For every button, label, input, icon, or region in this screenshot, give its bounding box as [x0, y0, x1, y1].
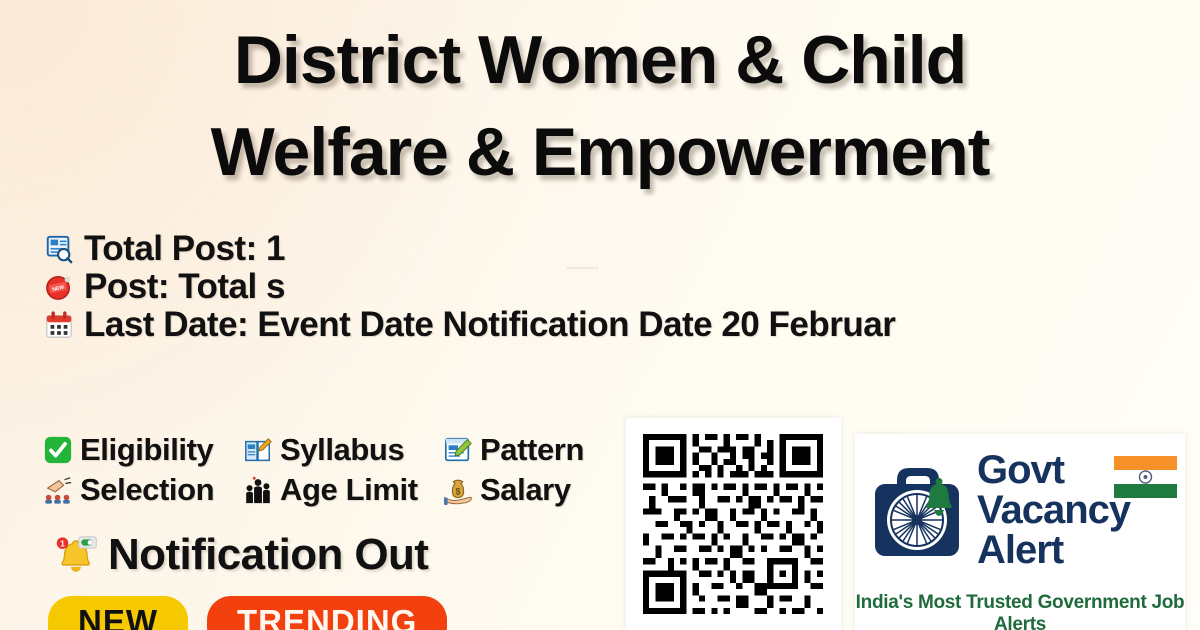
money-bag-icon: $ [442, 474, 474, 506]
info-list: Total Post: 1 NEW Post: Total s [42, 230, 1200, 344]
feature-list: Eligibility Syllabus [42, 430, 642, 510]
logo-word-line-3: Alert [977, 530, 1130, 570]
info-text: Last Date: Event Date Notification Date … [84, 305, 895, 345]
logo-word-line-1: Govt [977, 450, 1130, 490]
info-row-total-post: Total Post: 1 [42, 230, 1200, 268]
feature-row-2: Selection Age Limit $ [42, 470, 642, 510]
bell-alert-icon: 1 [48, 528, 102, 582]
logo-tagline: India's Most Trusted Government Job Aler… [855, 592, 1185, 630]
india-flag-icon [1114, 456, 1177, 498]
info-row-post: NEW Post: Total s [42, 268, 1200, 306]
info-text: Post: Total s [84, 267, 285, 307]
feature-label: Salary [480, 472, 571, 508]
selection-hand-icon [42, 474, 74, 506]
green-check-icon [42, 434, 74, 466]
feature-pattern: Pattern [442, 432, 642, 468]
notification-label: Notification Out [108, 530, 428, 580]
people-icon [242, 474, 274, 506]
logo-wordmark: Govt Vacancy Alert [977, 450, 1130, 570]
badge-row: NEW TRENDING [48, 596, 447, 630]
micro-watermark: govtvacancyalert.in [567, 266, 598, 270]
feature-row-1: Eligibility Syllabus [42, 430, 642, 470]
title-line-1: District Women & Child [0, 14, 1200, 106]
feature-salary: $ Salary [442, 472, 642, 508]
feature-age-limit: Age Limit [242, 472, 442, 508]
feature-label: Selection [80, 472, 214, 508]
feature-label: Eligibility [80, 432, 213, 468]
feature-label: Age Limit [280, 472, 418, 508]
logo-main: Govt Vacancy Alert [867, 450, 1130, 570]
logo-word-line-2: Vacancy [977, 490, 1130, 530]
feature-eligibility: Eligibility [42, 432, 242, 468]
calendar-icon [42, 308, 76, 342]
svg-text:1: 1 [60, 539, 65, 548]
briefcase-chakra-bell-icon [867, 450, 973, 570]
feature-label: Syllabus [280, 432, 404, 468]
info-row-last-date: Last Date: Event Date Notification Date … [42, 306, 1200, 344]
page-title: District Women & Child Welfare & Empower… [0, 14, 1200, 198]
title-line-2: Welfare & Empowerment [0, 106, 1200, 198]
svg-text:$: $ [455, 487, 461, 497]
document-search-icon [42, 232, 76, 266]
qr-card[interactable] [626, 418, 841, 630]
brand-logo-card[interactable]: Govt Vacancy Alert India's Most Trusted … [855, 434, 1185, 630]
qr-code[interactable] [643, 434, 823, 614]
feature-label: Pattern [480, 432, 584, 468]
notification-out: 1 Notification Out [48, 528, 428, 582]
feature-selection: Selection [42, 472, 242, 508]
exam-paper-icon [442, 434, 474, 466]
new-stamp-icon: NEW [42, 270, 76, 304]
badge-trending[interactable]: TRENDING [207, 596, 447, 630]
feature-syllabus: Syllabus [242, 432, 442, 468]
badge-new[interactable]: NEW [48, 596, 188, 630]
info-text: Total Post: 1 [84, 229, 285, 269]
book-pen-icon [242, 434, 274, 466]
